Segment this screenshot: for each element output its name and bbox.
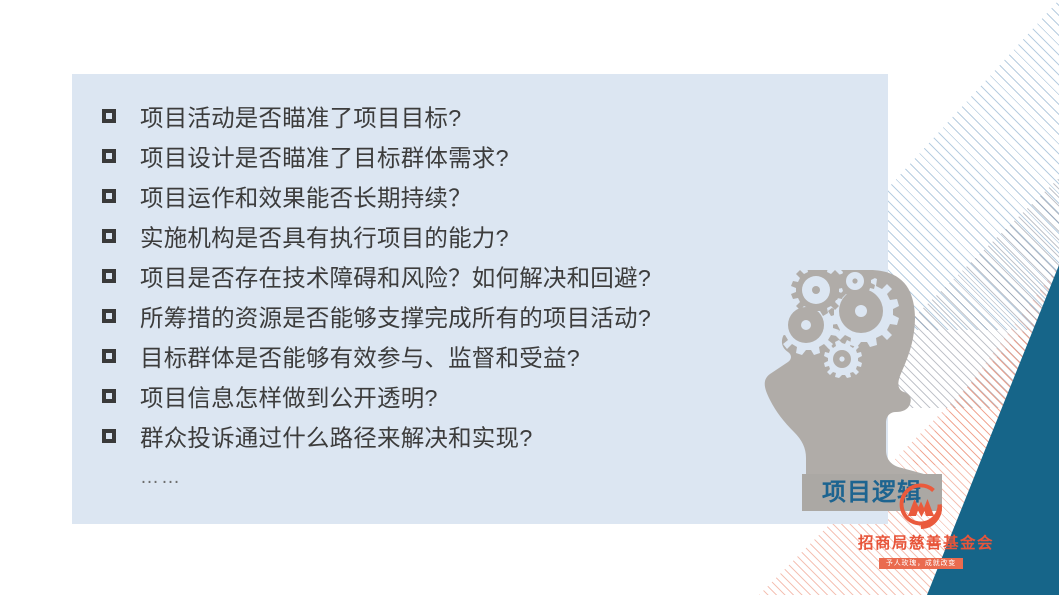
list-item-label: 项目是否存在技术障碍和风险？如何解决和回避? xyxy=(140,258,798,298)
hollow-square-bullet-icon xyxy=(102,269,116,283)
hollow-square-bullet-icon xyxy=(102,349,116,363)
list-item-label: 项目设计是否瞄准了目标群体需求? xyxy=(140,138,798,178)
list-item: 项目是否存在技术障碍和风险？如何解决和回避? xyxy=(98,258,798,298)
foundation-tagline: 予人玫瑰，成就改变 xyxy=(879,558,963,569)
china-merchants-foundation-mark-icon xyxy=(896,483,946,533)
list-item: 实施机构是否具有执行项目的能力? xyxy=(98,218,798,258)
list-item: 项目运作和效果能否长期持续？ xyxy=(98,178,798,218)
hollow-square-bullet-icon xyxy=(102,429,116,443)
list-item: 项目设计是否瞄准了目标群体需求? xyxy=(98,138,798,178)
hollow-square-bullet-icon xyxy=(102,109,116,123)
hollow-square-bullet-icon xyxy=(102,389,116,403)
list-item: 所筹措的资源是否能够支撑完成所有的项目活动? xyxy=(98,298,798,338)
hollow-square-bullet-icon xyxy=(102,229,116,243)
list-item: 群众投诉通过什么路径来解决和实现? xyxy=(98,418,798,458)
list-item-label: 群众投诉通过什么路径来解决和实现? xyxy=(140,418,798,458)
list-item-label: 项目活动是否瞄准了项目目标? xyxy=(140,98,798,138)
hollow-square-bullet-icon xyxy=(102,309,116,323)
list-item-label: 实施机构是否具有执行项目的能力? xyxy=(140,218,798,258)
list-item: 项目信息怎样做到公开透明? xyxy=(98,378,798,418)
head-with-gears-icon xyxy=(758,270,938,485)
list-item-label: …… xyxy=(140,458,798,498)
foundation-name: 招商局慈善基金会 xyxy=(858,535,984,552)
list-item-label: 项目运作和效果能否长期持续？ xyxy=(140,178,798,218)
list-item: 目标群体是否能够有效参与、监督和受益? xyxy=(98,338,798,378)
list-item-label: 所筹措的资源是否能够支撑完成所有的项目活动? xyxy=(140,298,798,338)
list-item-label: 目标群体是否能够有效参与、监督和受益? xyxy=(140,338,798,378)
content-card: 项目活动是否瞄准了项目目标? 项目设计是否瞄准了目标群体需求? 项目运作和效果能… xyxy=(72,74,888,524)
hollow-square-bullet-icon xyxy=(102,189,116,203)
list-item-label: 项目信息怎样做到公开透明? xyxy=(140,378,798,418)
list-item-ellipsis: …… xyxy=(98,458,798,498)
list-item: 项目活动是否瞄准了项目目标? xyxy=(98,98,798,138)
foundation-logo: 招商局慈善基金会 予人玫瑰，成就改变 xyxy=(858,483,984,570)
hollow-square-bullet-icon xyxy=(102,149,116,163)
bullet-list: 项目活动是否瞄准了项目目标? 项目设计是否瞄准了目标群体需求? 项目运作和效果能… xyxy=(98,98,798,498)
slide-canvas: 项目活动是否瞄准了项目目标? 项目设计是否瞄准了目标群体需求? 项目运作和效果能… xyxy=(0,0,1059,595)
